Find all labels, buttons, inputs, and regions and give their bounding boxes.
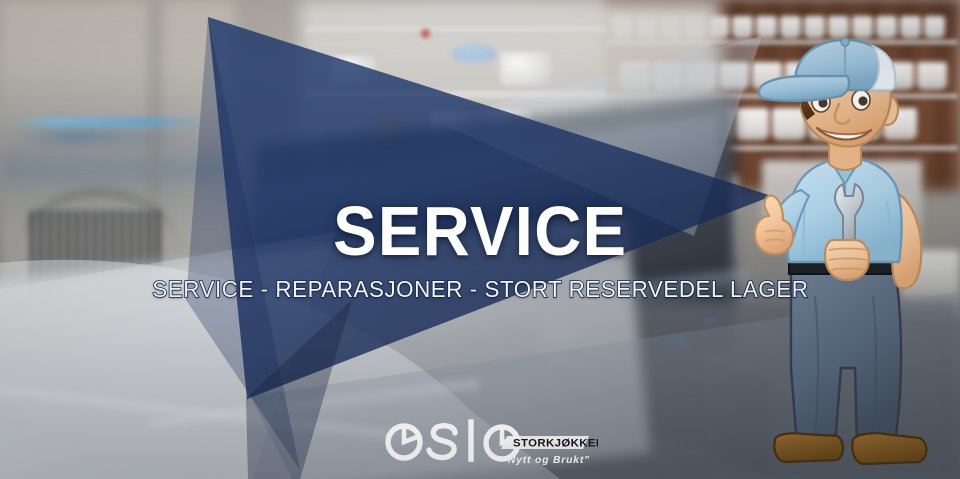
- oslo-storkjokken-logo[interactable]: STORKJØKKEN AS "Nytt og Brukt": [383, 416, 598, 470]
- logo-wordmark-oslo: [388, 422, 518, 459]
- mascot-shoe-right: [852, 433, 926, 464]
- mascot-pupil-right: [858, 96, 867, 105]
- service-banner: SERVICE SERVICE - REPARASJONER - STORT R…: [0, 0, 960, 479]
- mascot-shoe-left: [774, 433, 843, 462]
- mascot-pants: [791, 268, 901, 446]
- repairman-mascot: [745, 38, 960, 479]
- logo-company-line: STORKJØKKEN AS: [513, 437, 598, 449]
- logo-tagline: "Nytt og Brukt": [502, 455, 590, 466]
- mascot-cap-brim: [759, 76, 849, 101]
- mascot-cap-button: [841, 38, 849, 46]
